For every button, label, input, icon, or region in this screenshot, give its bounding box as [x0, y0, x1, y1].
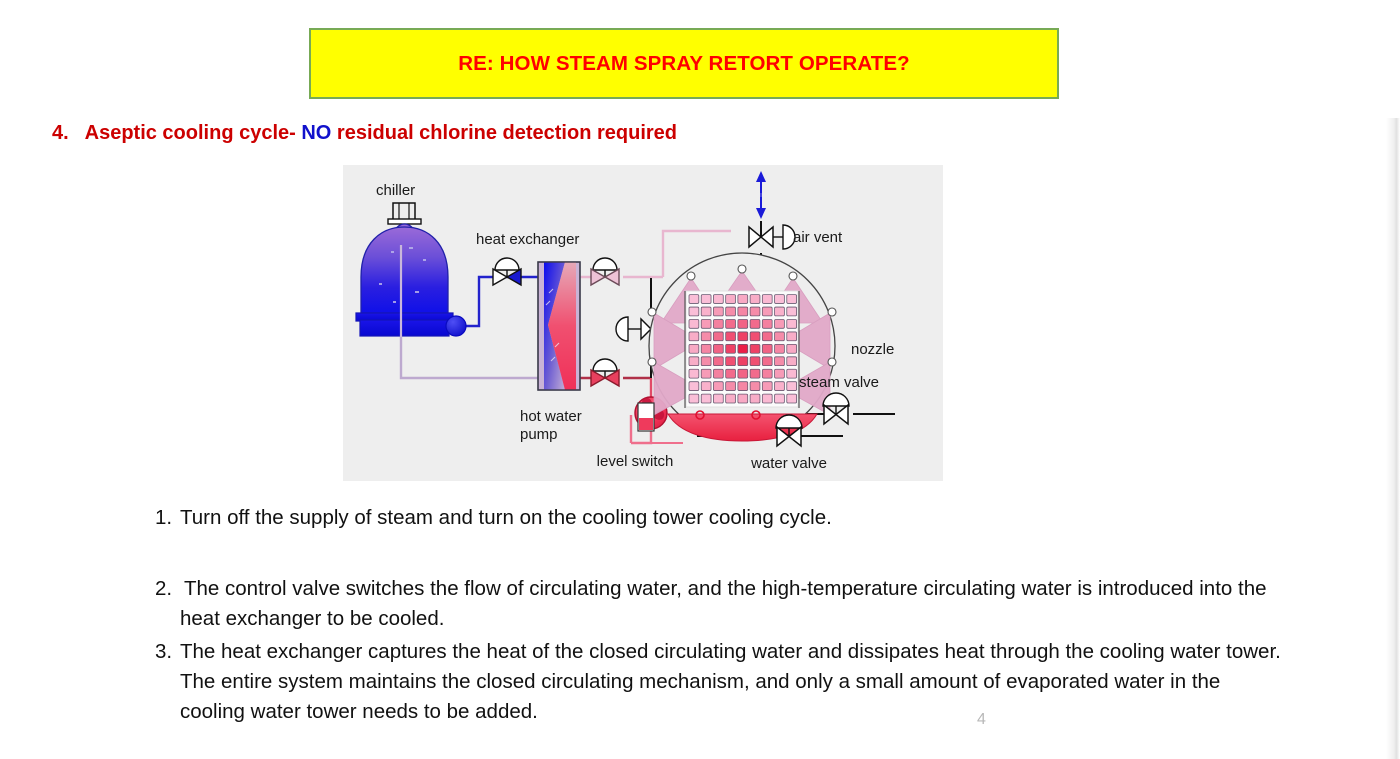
steam-valve[interactable]: [823, 393, 849, 424]
product-can: [726, 307, 736, 316]
product-can: [738, 344, 748, 353]
product-can: [775, 357, 785, 366]
product-can: [689, 357, 699, 366]
list-item: 1. Turn off the supply of steam and turn…: [155, 503, 1290, 533]
product-can: [713, 357, 723, 366]
product-can: [775, 319, 785, 328]
air-vent-valve[interactable]: [749, 225, 795, 249]
product-can: [726, 295, 736, 304]
product-can: [775, 295, 785, 304]
retort-vessel: [648, 253, 836, 441]
product-can: [689, 319, 699, 328]
product-can: [726, 357, 736, 366]
product-can: [738, 295, 748, 304]
steam-valve-label: steam valve: [799, 374, 879, 391]
product-can: [750, 295, 760, 304]
air-vent-arrow: [756, 171, 766, 219]
product-can: [713, 382, 723, 391]
product-can: [738, 319, 748, 328]
product-can: [726, 332, 736, 341]
section-heading: 4. Aseptic cooling cycle- NO residual ch…: [52, 122, 677, 145]
level-switch-label: level switch: [597, 453, 674, 470]
level-switch-float: [638, 403, 654, 431]
product-can: [701, 319, 711, 328]
product-can: [762, 382, 772, 391]
product-can: [701, 295, 711, 304]
product-can: [713, 307, 723, 316]
page-title: RE: HOW STEAM SPRAY RETORT OPERATE?: [458, 52, 910, 76]
product-can: [762, 344, 772, 353]
retort-schematic-diagram: chiller heat exchanger: [343, 165, 943, 481]
section-heading-part2: residual chlorine detection required: [337, 122, 677, 144]
product-can: [762, 357, 772, 366]
air-vent-label: air vent: [793, 229, 843, 246]
body-text-list: 1. Turn off the supply of steam and turn…: [155, 503, 1290, 727]
product-can: [713, 369, 723, 378]
page-number: 4: [977, 711, 986, 729]
product-can: [750, 332, 760, 341]
red-outlet-valve[interactable]: [591, 359, 619, 386]
list-item-marker: 2.: [155, 574, 180, 604]
nozzle-label: nozzle: [851, 341, 894, 358]
product-can: [762, 369, 772, 378]
section-heading-number: 4.: [52, 122, 69, 144]
list-item-text: Turn off the supply of steam and turn on…: [180, 503, 1290, 533]
product-can: [775, 344, 785, 353]
product-can: [750, 319, 760, 328]
product-can: [726, 344, 736, 353]
product-can: [762, 332, 772, 341]
product-can: [701, 382, 711, 391]
product-can: [738, 394, 748, 403]
product-can: [689, 307, 699, 316]
product-can: [689, 332, 699, 341]
product-can: [713, 295, 723, 304]
list-item: 2. The control valve switches the flow o…: [155, 574, 1290, 634]
product-can: [750, 394, 760, 403]
product-can: [750, 382, 760, 391]
product-can: [762, 394, 772, 403]
water-valve[interactable]: [776, 415, 802, 446]
product-can: [689, 295, 699, 304]
product-can: [787, 332, 797, 341]
product-can: [726, 369, 736, 378]
product-can: [762, 295, 772, 304]
product-can: [787, 394, 797, 403]
section-heading-highlight: NO: [301, 122, 331, 144]
slide-title-banner: RE: HOW STEAM SPRAY RETORT OPERATE?: [309, 28, 1059, 99]
product-can: [762, 319, 772, 328]
chiller-tower: [356, 203, 466, 337]
plate-heat-exchanger: [538, 262, 580, 390]
product-can: [775, 394, 785, 403]
section-heading-part1: Aseptic cooling cycle-: [85, 122, 296, 144]
product-can: [689, 382, 699, 391]
product-can: [787, 307, 797, 316]
list-item: 3. The heat exchanger captures the heat …: [155, 637, 1290, 727]
product-can: [787, 344, 797, 353]
product-can: [750, 344, 760, 353]
product-can: [738, 357, 748, 366]
product-can: [726, 382, 736, 391]
list-item-marker: 1.: [155, 503, 180, 533]
product-can: [713, 344, 723, 353]
product-can: [738, 382, 748, 391]
product-can: [750, 369, 760, 378]
product-can: [701, 307, 711, 316]
product-can: [701, 394, 711, 403]
product-can: [738, 307, 748, 316]
heat-exchanger-label: heat exchanger: [476, 231, 579, 248]
product-can: [689, 344, 699, 353]
product-can: [738, 369, 748, 378]
product-can: [738, 332, 748, 341]
product-can: [701, 369, 711, 378]
product-can: [750, 307, 760, 316]
product-can: [775, 332, 785, 341]
hot-water-pump-label-line1: hot water: [520, 408, 582, 425]
product-can: [689, 394, 699, 403]
product-can: [787, 295, 797, 304]
list-item-text: The heat exchanger captures the heat of …: [180, 637, 1290, 727]
product-can: [726, 319, 736, 328]
product-can: [787, 319, 797, 328]
page-edge-shadow: [1386, 118, 1400, 759]
product-can: [775, 382, 785, 391]
product-can: [750, 357, 760, 366]
cold-inlet-valve[interactable]: [493, 258, 521, 285]
hot-water-pump-label-line2: pump: [520, 426, 558, 443]
product-can: [787, 382, 797, 391]
chiller-label: chiller: [376, 182, 415, 199]
product-can: [713, 394, 723, 403]
product-can: [726, 394, 736, 403]
pink-return-valve[interactable]: [591, 258, 619, 285]
product-can: [713, 319, 723, 328]
circulation-pump-ball: [446, 316, 466, 336]
product-can: [713, 332, 723, 341]
product-can: [701, 344, 711, 353]
product-can: [775, 369, 785, 378]
product-can-rack: [689, 295, 797, 403]
water-valve-label: water valve: [750, 455, 827, 472]
product-can: [689, 369, 699, 378]
product-can: [787, 357, 797, 366]
product-can: [762, 307, 772, 316]
product-can: [701, 332, 711, 341]
product-can: [701, 357, 711, 366]
product-can: [787, 369, 797, 378]
list-item-text: The control valve switches the flow of c…: [180, 574, 1290, 634]
list-item-marker: 3.: [155, 637, 180, 667]
product-can: [775, 307, 785, 316]
